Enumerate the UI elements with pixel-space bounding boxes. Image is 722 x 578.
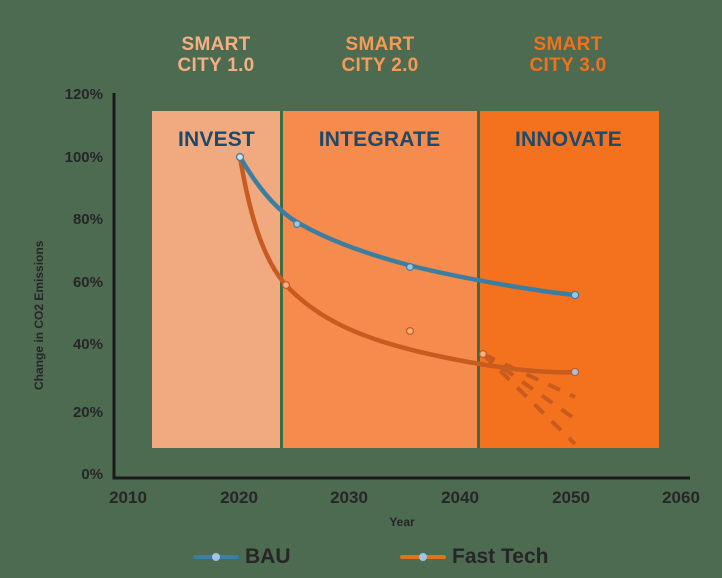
data-point [571, 368, 578, 375]
data-point [571, 291, 578, 298]
y-axis-title: Change in CO2 Emissions [32, 241, 46, 390]
data-point [237, 154, 244, 161]
band-label-invest-text: INVEST [178, 128, 255, 151]
y-tick-label: 100% [33, 149, 103, 166]
band-label-integrate-text: INTEGRATE [319, 128, 441, 151]
legend-item-fast-tech[interactable]: Fast Tech [400, 545, 548, 569]
data-point [407, 264, 414, 271]
x-tick-label: 2050 [536, 488, 606, 508]
legend-label-bau: BAU [245, 545, 291, 569]
band-innovate-fill [478, 111, 659, 448]
x-tick-label: 2010 [93, 488, 163, 508]
x-axis-title: Year [342, 515, 462, 529]
x-tick-label: 2030 [314, 488, 384, 508]
chart-canvas: SMART CITY 1.0 SMART CITY 2.0 SMART CITY… [0, 0, 722, 578]
x-tick-label: 2020 [204, 488, 274, 508]
band-integrate-fill [281, 111, 478, 448]
legend-label-fast-tech: Fast Tech [452, 545, 548, 569]
x-tick-label: 2060 [646, 488, 716, 508]
y-tick-label: 80% [33, 211, 103, 228]
x-tick-label: 2040 [425, 488, 495, 508]
band-label-invest: INVEST [152, 128, 281, 152]
data-point [294, 221, 301, 228]
band-label-innovate: INNOVATE [478, 128, 659, 152]
legend-swatch-bau [193, 552, 239, 562]
y-tick-label: 20% [33, 404, 103, 421]
band-label-integrate: INTEGRATE [281, 128, 478, 152]
legend-swatch-fast-tech [400, 552, 446, 562]
data-point [480, 351, 487, 358]
data-point [283, 282, 290, 289]
data-point [407, 328, 414, 335]
y-tick-label: 0% [33, 466, 103, 483]
band-label-innovate-text: INNOVATE [515, 128, 622, 151]
y-tick-label: 120% [33, 86, 103, 103]
band-invest-fill [152, 111, 281, 448]
legend-item-bau[interactable]: BAU [193, 545, 291, 569]
